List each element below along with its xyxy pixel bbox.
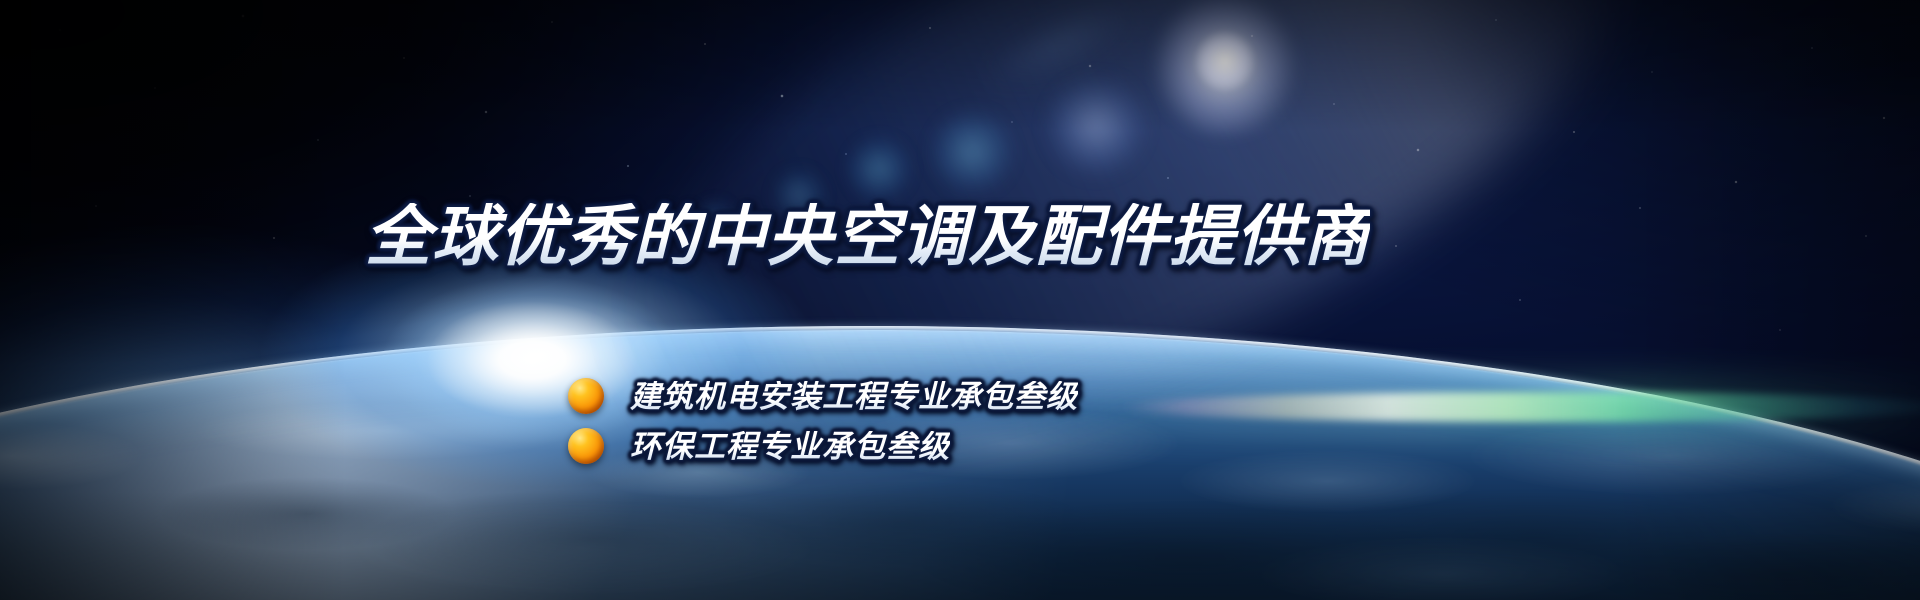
orange-dot-icon <box>568 378 604 414</box>
banner-content: 全球优秀的中央空调及配件提供商 建筑机电安装工程专业承包叁级 环保工程专业承包叁… <box>0 0 1920 600</box>
banner-bullet-item-0: 建筑机电安装工程专业承包叁级 <box>568 378 1078 414</box>
banner-bullet-label-1: 环保工程专业承包叁级 <box>630 431 950 462</box>
banner-bullet-label-0: 建筑机电安装工程专业承包叁级 <box>630 381 1078 412</box>
orange-dot-icon <box>568 428 604 464</box>
banner-bullet-item-1: 环保工程专业承包叁级 <box>568 428 950 464</box>
hero-banner: 全球优秀的中央空调及配件提供商 建筑机电安装工程专业承包叁级 环保工程专业承包叁… <box>0 0 1920 600</box>
banner-headline: 全球优秀的中央空调及配件提供商 <box>365 203 1370 269</box>
